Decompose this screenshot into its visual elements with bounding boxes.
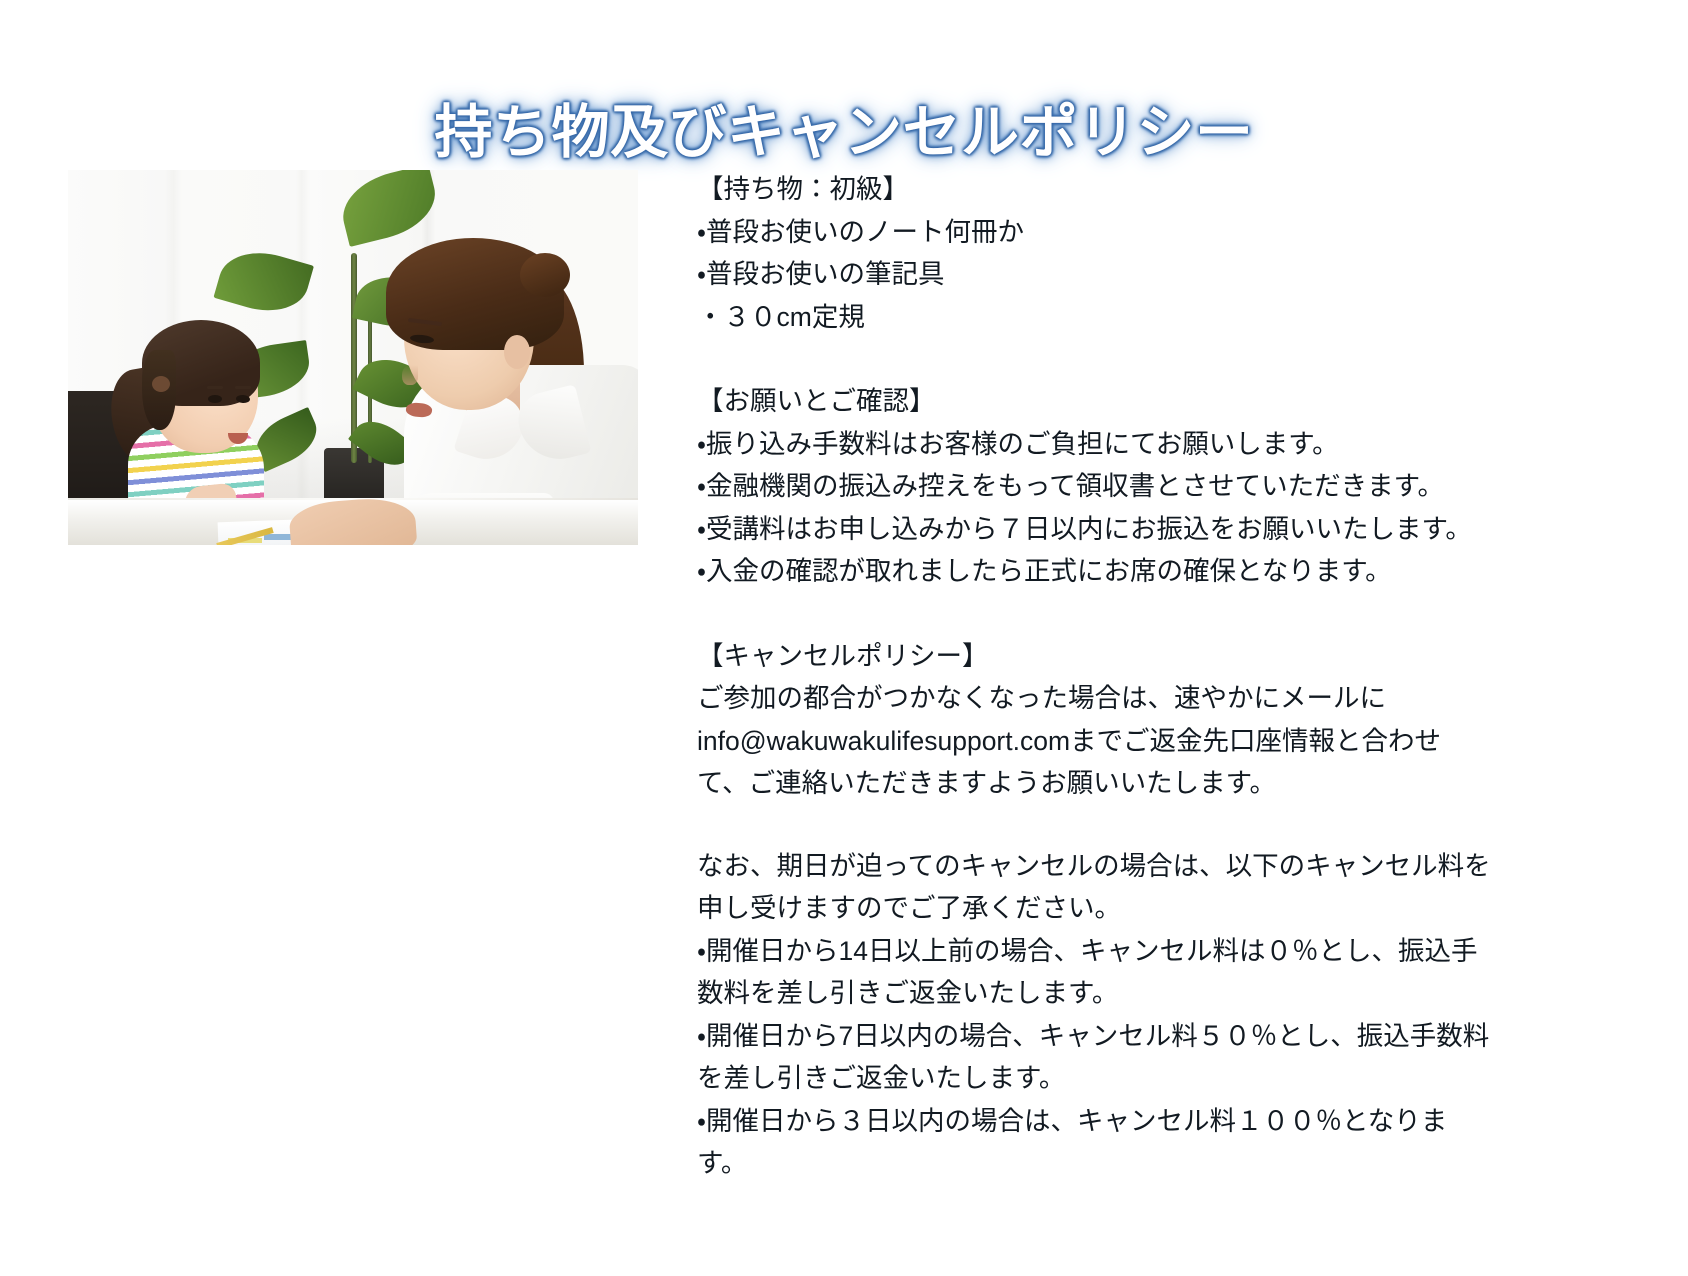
request-heading: 【お願いとご確認】	[697, 380, 1507, 423]
request-list-item: ・金融機関の振込み控えをもって領収書とさせていただきます。	[697, 465, 1507, 508]
cancel-note-line: なお、期日が迫ってのキャンセルの場合は、以下のキャンセル料を	[697, 845, 1507, 888]
cancel-fee-item-cont: 数料を差し引きご返金いたします。	[697, 972, 1507, 1015]
cancel-fee-item-cont: す。	[697, 1142, 1507, 1185]
policy-content: 【持ち物：初級】 ・普段お使いのノート何冊か ・普段お使いの筆記具 ・３０cm定…	[697, 168, 1507, 1185]
photo-girl-eyebrow	[235, 386, 251, 389]
photo-teacher-nose	[402, 365, 418, 385]
cancel-fee-item: ・開催日から14日以上前の場合、キャンセル料は０％とし、振込手	[697, 930, 1507, 973]
lesson-photo	[68, 170, 638, 545]
photo-girl-eyebrow	[207, 386, 223, 389]
request-list-item: ・受講料はお申し込みから７日以内にお振込をお願いいたします。	[697, 508, 1507, 551]
cancel-policy-intro-line: ご参加の都合がつかなくなった場合は、速やかにメールに	[697, 677, 1507, 720]
photo-girl-eye	[208, 395, 222, 403]
items-heading: 【持ち物：初級】	[697, 168, 1507, 211]
page-title: 持ち物及びキャンセルポリシー	[0, 101, 1688, 166]
items-list-item: ・普段お使いのノート何冊か	[697, 211, 1507, 254]
section-spacer	[697, 805, 1507, 845]
request-list-item: ・入金の確認が取れましたら正式にお席の確保となります。	[697, 550, 1507, 593]
items-list-item: ・３０cm定規	[697, 296, 1507, 339]
cancel-fee-item: ・開催日から３日以内の場合は、キャンセル料１００％となりま	[697, 1100, 1507, 1143]
photo-teacher-ponytail	[520, 253, 570, 297]
cancel-policy-email-line: info@wakuwakulifesupport.comまでご返金先口座情報と合…	[697, 720, 1507, 763]
cancel-policy-intro-line: て、ご連絡いただきますようお願いいたします。	[697, 762, 1507, 805]
photo-teacher-ear	[504, 335, 530, 369]
cancel-fee-item: ・開催日から7日以内の場合、キャンセル料５０％とし、振込手数料	[697, 1015, 1507, 1058]
section-spacer	[697, 593, 1507, 635]
cancel-fee-item-cont: を差し引きご返金いたします。	[697, 1057, 1507, 1100]
section-spacer	[697, 338, 1507, 380]
request-list-item: ・振り込み手数料はお客様のご負担にてお願いします。	[697, 423, 1507, 466]
cancel-note-line: 申し受けますのでご了承ください。	[697, 887, 1507, 930]
items-list-item: ・普段お使いの筆記具	[697, 253, 1507, 296]
cancel-policy-heading: 【キャンセルポリシー】	[697, 635, 1507, 678]
